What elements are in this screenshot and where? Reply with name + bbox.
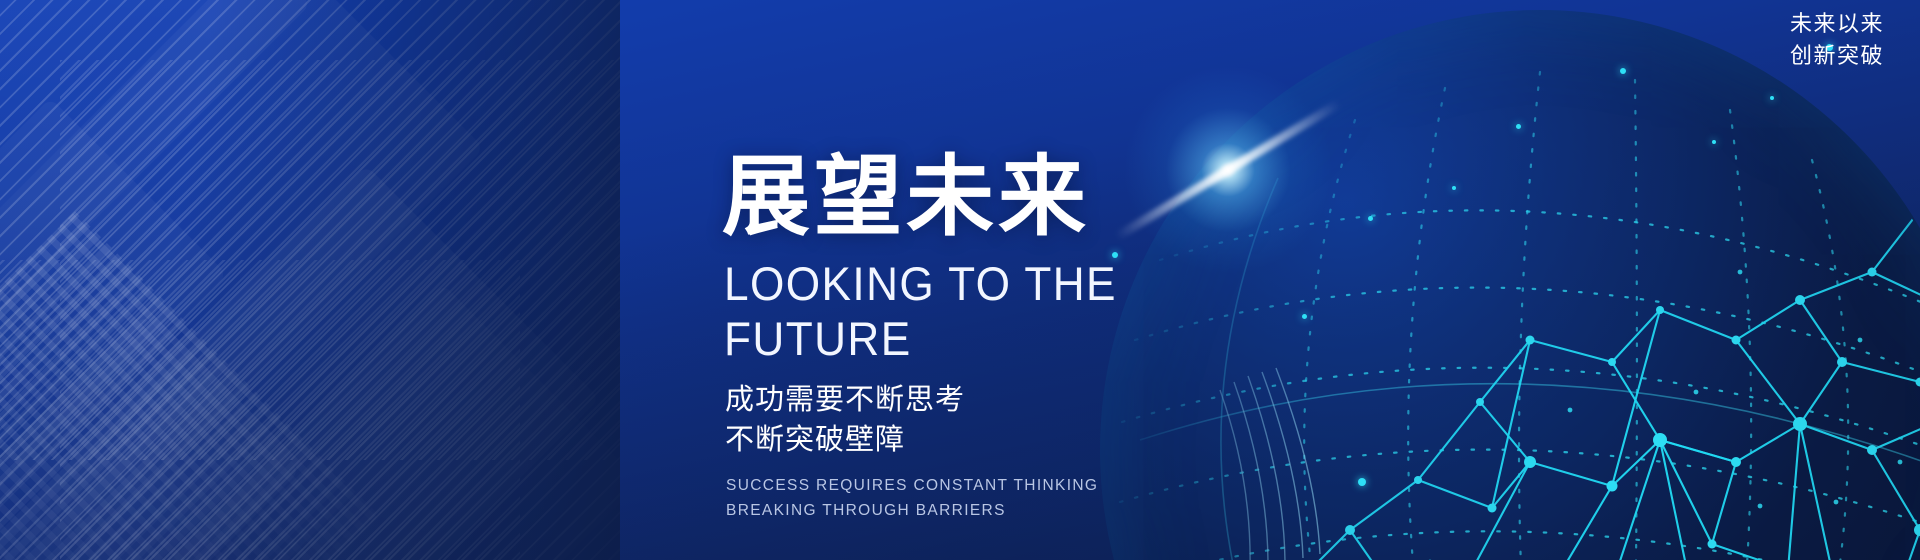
spark-dot (1620, 68, 1626, 74)
subtitle-chinese-line1: 成功需要不断思考 (725, 380, 1342, 420)
corner-tagline-line2: 创新突破 (1790, 40, 1884, 72)
deco-slab (0, 0, 484, 544)
rotated-dot-grid (0, 211, 379, 560)
diagonal-geometric-panels (0, 0, 620, 560)
corner-tagline: 未来以来 创新突破 (1790, 8, 1884, 72)
deco-slab (0, 0, 311, 336)
deco-slab (139, 284, 620, 560)
subtitle-chinese-line2: 不断突破壁障 (725, 420, 1342, 460)
deco-diagonal-lines (0, 0, 620, 460)
deco-diagonal-lines (0, 260, 520, 560)
spark-dot (1368, 216, 1373, 221)
spark-dot (1770, 96, 1774, 100)
headline-block: 展望未来 LOOKING TO THE FUTURE 成功需要不断思考 不断突破… (722, 150, 1342, 524)
deco-slab (0, 165, 600, 560)
deco-fade-overlay (0, 0, 620, 560)
corner-tagline-line1: 未来以来 (1790, 8, 1884, 40)
title-english: LOOKING TO THE FUTURE (724, 257, 1305, 366)
subtitle-english-line1: SUCCESS REQUIRES CONSTANT THINKING (726, 473, 1342, 498)
page-title: 展望未来 (722, 150, 1342, 243)
deco-slab (0, 315, 300, 560)
spark-dot (1516, 124, 1521, 129)
subtitle-english-line2: BREAKING THROUGH BARRIERS (726, 498, 1342, 523)
subtitle-english: SUCCESS REQUIRES CONSTANT THINKING BREAK… (726, 473, 1342, 523)
subtitle-chinese: 成功需要不断思考 不断突破壁障 (725, 380, 1342, 460)
deco-slab (0, 98, 227, 560)
spark-dot (1358, 478, 1366, 486)
promo-banner: 未来以来 创新突破 展望未来 LOOKING TO THE FUTURE 成功需… (0, 0, 1920, 560)
deco-diagonal-lines (60, 60, 620, 560)
spark-dot (1452, 186, 1456, 190)
spark-dot (1712, 140, 1716, 144)
